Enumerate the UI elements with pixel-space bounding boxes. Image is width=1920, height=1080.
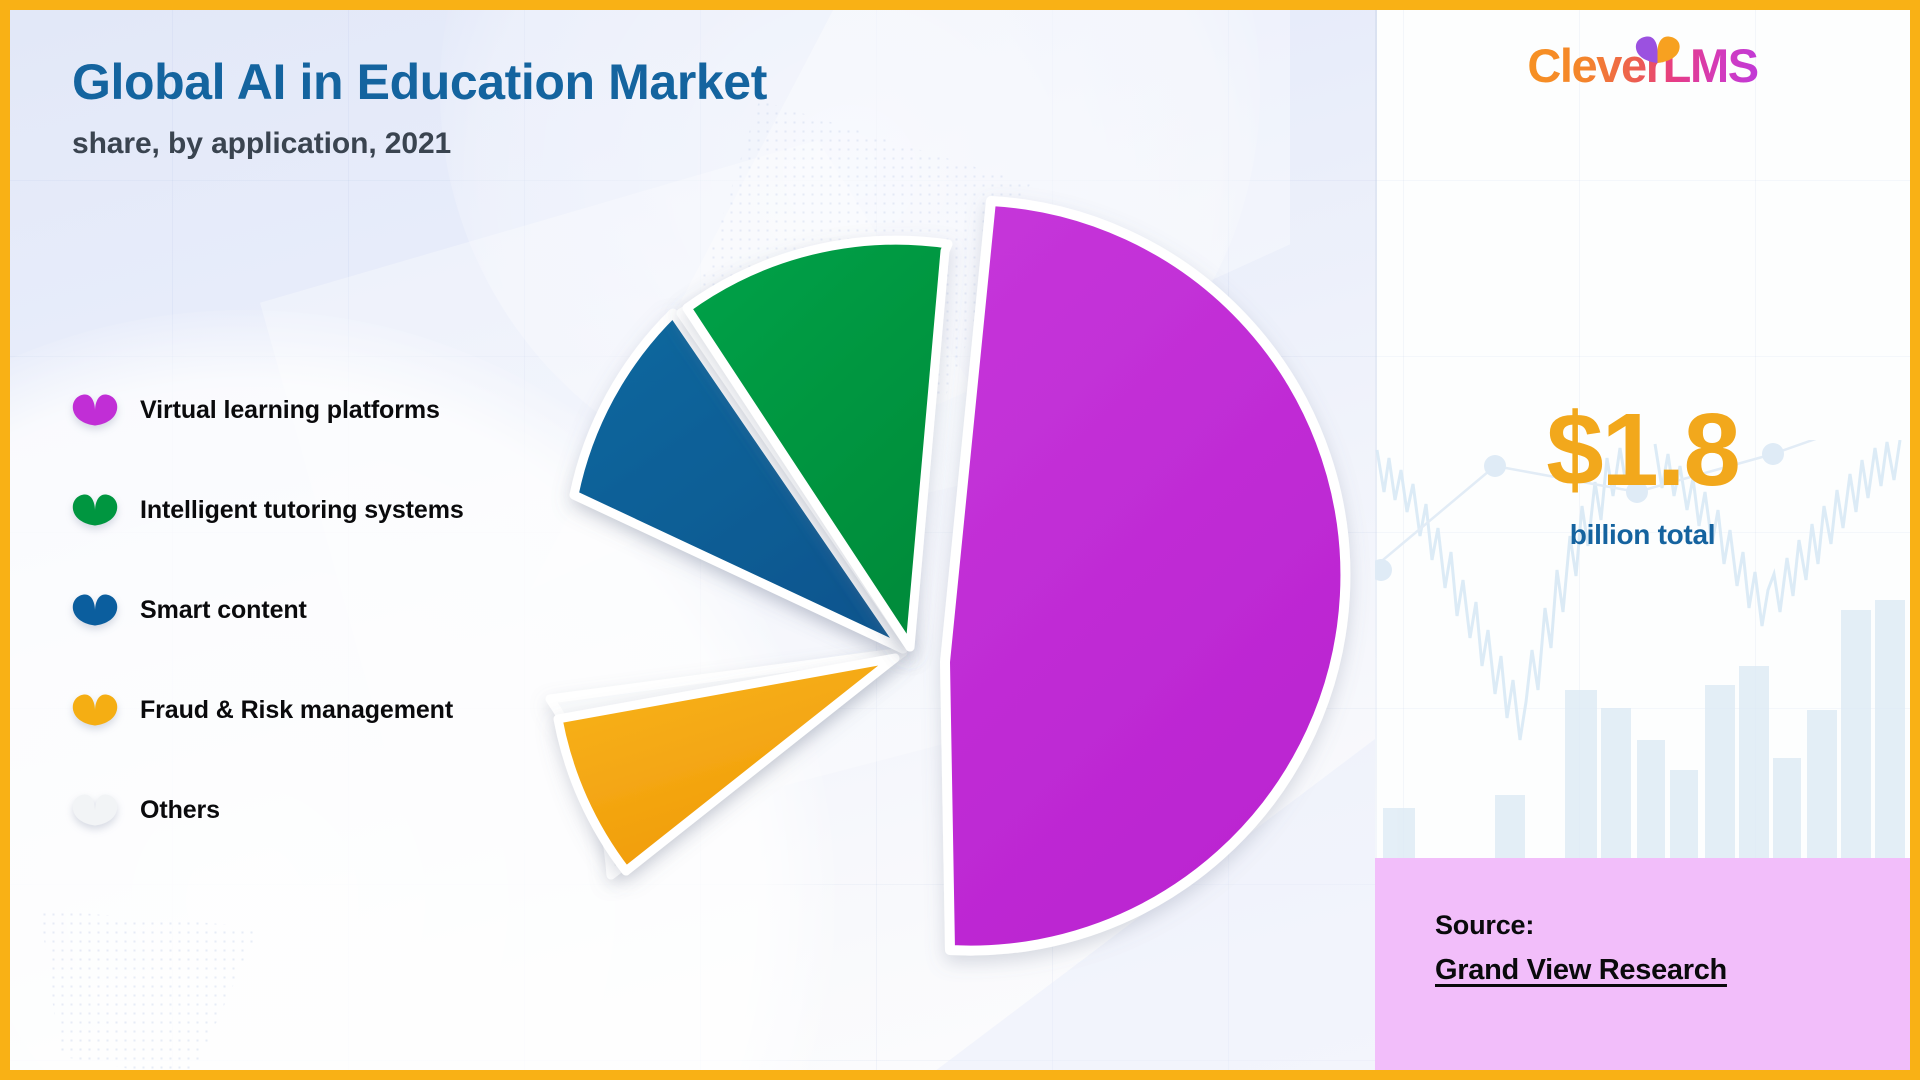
page-title: Global AI in Education Market [72,56,1152,109]
leaf-marker-icon [72,494,118,526]
legend-item-label: Virtual learning platforms [140,396,440,425]
pie-chart [440,160,1440,1080]
legend-item-label: Fraud & Risk management [140,696,453,725]
page-subtitle: share, by application, 2021 [72,127,1152,161]
source-label: Source: [1435,910,1910,941]
legend-item-label: Intelligent tutoring systems [140,496,464,525]
source-link[interactable]: Grand View Research [1435,954,1727,987]
infographic-root: Global AI in Education Market share, by … [0,0,1920,1080]
leaf-marker-icon [72,594,118,626]
legend-item-label: Smart content [140,596,307,625]
stat-value: $1.8 [1375,398,1910,501]
leaf-marker-icon [72,394,118,426]
source-block: Source: Grand View Research [1375,858,1910,1070]
stat-caption: billion total [1375,519,1910,551]
pie-slice-virtual-learning-platforms[interactable] [945,201,1345,951]
leaf-marker-icon [72,794,118,826]
headline-stat: $1.8 billion total [1375,398,1910,551]
legend-item-label: Others [140,796,220,825]
two-petal-leaf-icon [1634,36,1682,64]
leaf-marker-icon [72,694,118,726]
pie-chart-svg [440,160,1440,1080]
side-panel: CleverLMS $1.8 billion total Source: Gra… [1375,10,1910,1070]
brand-logo[interactable]: CleverLMS [1375,38,1910,93]
headline-block: Global AI in Education Market share, by … [72,56,1152,161]
